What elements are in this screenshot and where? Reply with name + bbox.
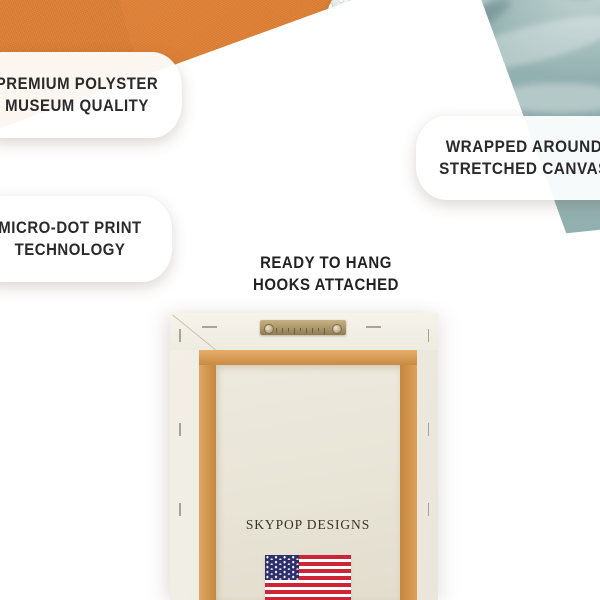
feature-label-ready-to-hang: READY TO HANG HOOKS ATTACHED [247, 252, 405, 297]
staple-mark [428, 503, 430, 516]
sawtooth-hanger [260, 320, 346, 335]
staple-mark [428, 423, 430, 436]
canvas-back-view: SKYPOP DESIGNS [170, 313, 438, 600]
feature-line: PREMIUM POLYSTER [0, 73, 158, 95]
hanger-screw-right [332, 324, 342, 334]
feature-line: READY TO HANG [247, 252, 405, 274]
wood-bar-right [400, 350, 417, 600]
canvas-back-surface: SKYPOP DESIGNS [216, 365, 400, 600]
brand-name: SKYPOP DESIGNS [216, 517, 400, 533]
feature-line: STRETCHED CANVAS [439, 158, 600, 180]
feature-pill-micro-dot-print: MICRO-DOT PRINT TECHNOLOGY [0, 196, 172, 282]
feature-line: MUSEUM QUALITY [5, 95, 149, 117]
us-flag-icon [265, 555, 351, 600]
infographic-canvas: PREMIUM POLYSTER MUSEUM QUALITY MICRO-DO… [0, 0, 600, 600]
staple-mark [366, 326, 381, 328]
staple-mark [428, 329, 430, 342]
staple-mark [179, 423, 181, 436]
staple-mark [179, 329, 181, 342]
feature-line: MICRO-DOT PRINT [0, 217, 142, 239]
staple-mark [202, 326, 217, 328]
feature-line: WRAPPED AROUND [446, 136, 600, 158]
feature-pill-wrapped-around: WRAPPED AROUND STRETCHED CANVAS [416, 116, 600, 200]
wooden-stretcher-frame: SKYPOP DESIGNS [199, 350, 417, 600]
flag-stars [265, 555, 299, 580]
hanger-teeth [276, 328, 330, 335]
feature-line: HOOKS ATTACHED [247, 274, 405, 296]
feature-line: TECHNOLOGY [15, 239, 126, 261]
wood-bar-left [199, 350, 216, 600]
wood-bar-top [199, 350, 417, 365]
staple-mark [179, 503, 181, 516]
hanger-screw-left [264, 324, 274, 334]
feature-pill-premium-polyster: PREMIUM POLYSTER MUSEUM QUALITY [0, 52, 182, 138]
flag-canton [265, 555, 299, 580]
